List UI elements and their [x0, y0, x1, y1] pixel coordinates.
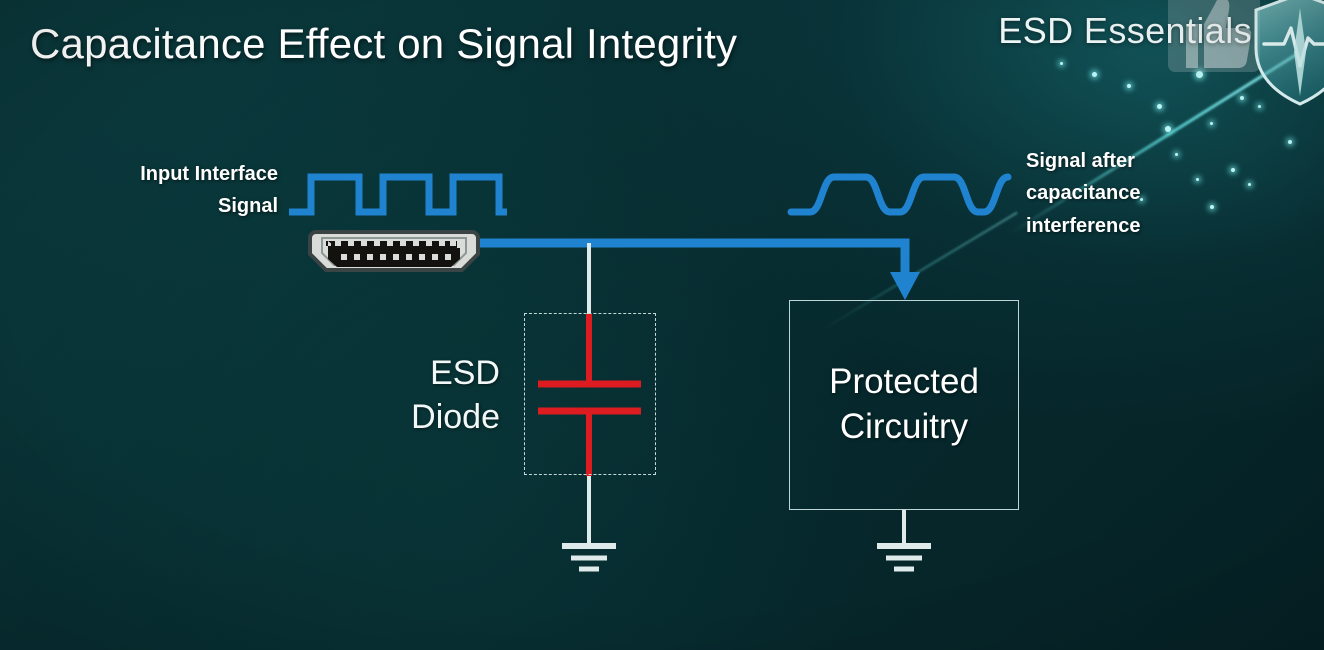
signal-flow-arrow-icon	[890, 272, 920, 300]
input-square-waveform	[289, 177, 507, 212]
esd-diode-label: ESD Diode	[390, 352, 500, 439]
slide-canvas: ESD Essentials Capacitance Effect on Sig…	[0, 0, 1324, 650]
protected-circuitry-line1: Protected	[829, 360, 979, 405]
ground-symbol-right-icon	[877, 546, 931, 569]
ground-symbol-left-icon	[562, 546, 616, 569]
protected-circuitry-text: Protected Circuitry	[829, 360, 979, 450]
signal-trace	[478, 243, 905, 276]
esd-diode-label-line2: Diode	[390, 396, 500, 440]
esd-diode-boundary	[524, 313, 656, 475]
protected-circuitry-box: Protected Circuitry	[789, 300, 1019, 510]
circuit-diagram	[0, 0, 1324, 650]
protected-circuitry-line2: Circuitry	[829, 405, 979, 450]
hdmi-connector-icon	[310, 232, 478, 270]
esd-diode-label-line1: ESD	[390, 352, 500, 396]
output-rounded-waveform	[791, 177, 1008, 212]
